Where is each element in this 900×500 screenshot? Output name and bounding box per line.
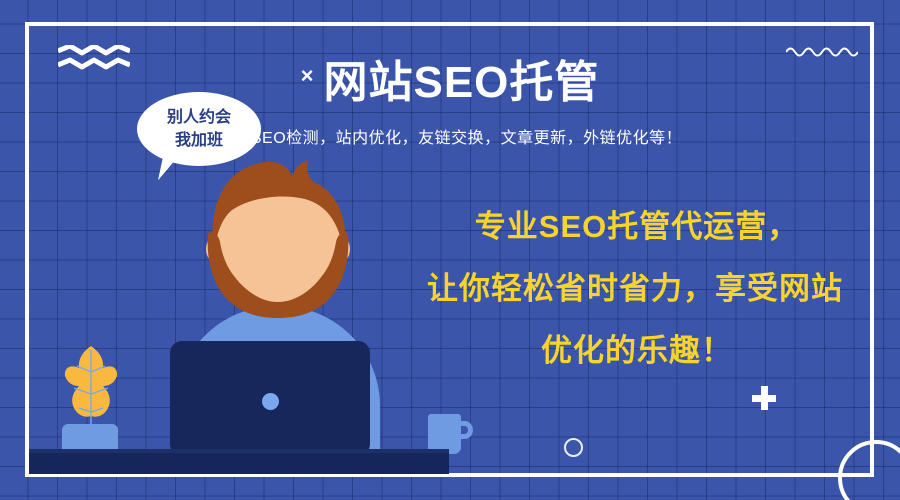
small-circle-outline-icon — [564, 438, 583, 457]
slogan-line-1: 专业SEO托管代运营， — [382, 196, 892, 258]
laptop-logo-icon — [262, 393, 279, 410]
speech-bubble: 别人约会 我加班 — [137, 92, 261, 166]
plus-mark-icon — [752, 386, 776, 410]
speech-bubble-line-2: 我加班 — [175, 129, 223, 152]
coffee-mug — [428, 414, 461, 454]
desk-surface — [29, 453, 449, 474]
page-title: 网站SEO托管 — [323, 46, 599, 110]
seo-hosting-banner: 别人约会 我加班 ×网站SEO托管 含：SEO检测，站内优化，友链交换，文章更新… — [0, 0, 900, 500]
laptop — [170, 341, 370, 456]
title-cross-icon: × — [301, 63, 314, 89]
slogan-line-2: 让你轻松省时省力，享受网站 — [378, 258, 892, 320]
slogan-line-3: 优化的乐趣！ — [382, 320, 892, 382]
page-subtitle: 含：SEO检测，站内优化，友链交换，文章更新，外链优化等！ — [0, 124, 900, 148]
slogan-block: 专业SEO托管代运营， 让你轻松省时省力，享受网站 优化的乐趣！ — [382, 196, 892, 382]
beard-icon — [204, 228, 352, 318]
speech-bubble-line-1: 别人约会 — [167, 106, 231, 129]
title-row: ×网站SEO托管 — [0, 46, 900, 110]
